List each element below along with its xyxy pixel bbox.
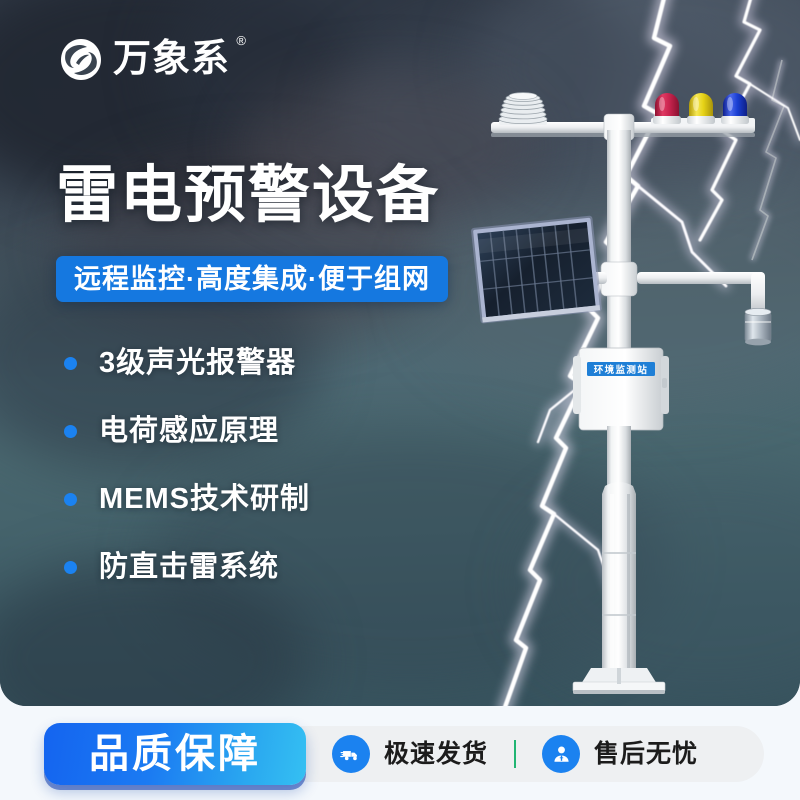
controller-box: 环境监测站 (573, 348, 669, 430)
solar-panel (471, 215, 602, 323)
red-beacon (653, 93, 681, 124)
list-item: MEMS技术研制 (64, 480, 310, 518)
bullet-dot-icon (64, 425, 77, 438)
trust-strip: 极速发货 售后无忧 (286, 726, 764, 782)
registered-trademark-icon: ® (236, 34, 247, 47)
feature-label: 3级声光报警器 (99, 344, 296, 382)
weather-station-product: 环境监测站 (455, 90, 795, 700)
quality-badge-text: 品质保障 (89, 734, 261, 774)
product-poster: 环境监测站 (0, 0, 800, 800)
trust-item-shipping: 极速发货 (332, 735, 488, 773)
person-glyph (550, 743, 573, 766)
feature-label: 防直击雷系统 (99, 548, 279, 586)
bullet-dot-icon (64, 561, 77, 574)
mounting-pole-mid (607, 426, 631, 490)
page-title: 雷电预警设备 (56, 158, 440, 234)
list-item: 3级声光报警器 (64, 344, 310, 382)
trust-item-list: 极速发货 售后无忧 (332, 735, 698, 773)
bullet-dot-icon (64, 493, 77, 506)
radiation-shield-sensor (499, 93, 547, 125)
trust-divider (514, 740, 516, 768)
trust-label: 极速发货 (384, 742, 488, 767)
box-label-text: 环境监测站 (594, 364, 649, 376)
footer-trust-bar: 极速发货 售后无忧 品质保障 (0, 706, 800, 800)
mounting-pole-lower (602, 482, 636, 670)
brand-wordmark-text: 万象系 (113, 38, 230, 80)
base-plate (573, 668, 665, 694)
list-item: 电荷感应原理 (64, 412, 310, 450)
hero-storm-background: 环境监测站 (0, 0, 800, 706)
subtitle-banner: 远程监控·高度集成·便于组网 (56, 256, 448, 302)
delivery-truck-icon (332, 735, 370, 773)
rain-gauge-sensor (745, 308, 771, 345)
quality-badge: 品质保障 (44, 723, 306, 785)
trust-item-aftersales: 售后无忧 (542, 735, 698, 773)
trust-label: 售后无忧 (594, 742, 698, 767)
blue-beacon (721, 93, 749, 124)
list-item: 防直击雷系统 (64, 548, 310, 586)
alarm-beacon-stack (651, 93, 755, 126)
feature-list: 3级声光报警器 电荷感应原理 MEMS技术研制 防直击雷系统 (64, 344, 310, 586)
subtitle-text: 远程监控·高度集成·便于组网 (74, 266, 430, 293)
yellow-beacon (687, 93, 715, 124)
feature-label: MEMS技术研制 (99, 480, 310, 518)
brand-wordmark: 万象系 ® (113, 36, 230, 82)
support-agent-icon (542, 735, 580, 773)
brand-logo: 万象系 ® (58, 36, 230, 83)
swirl-circle-logo-icon (58, 37, 104, 83)
truck-glyph (340, 743, 363, 766)
feature-label: 电荷感应原理 (99, 412, 279, 450)
bullet-dot-icon (64, 357, 77, 370)
